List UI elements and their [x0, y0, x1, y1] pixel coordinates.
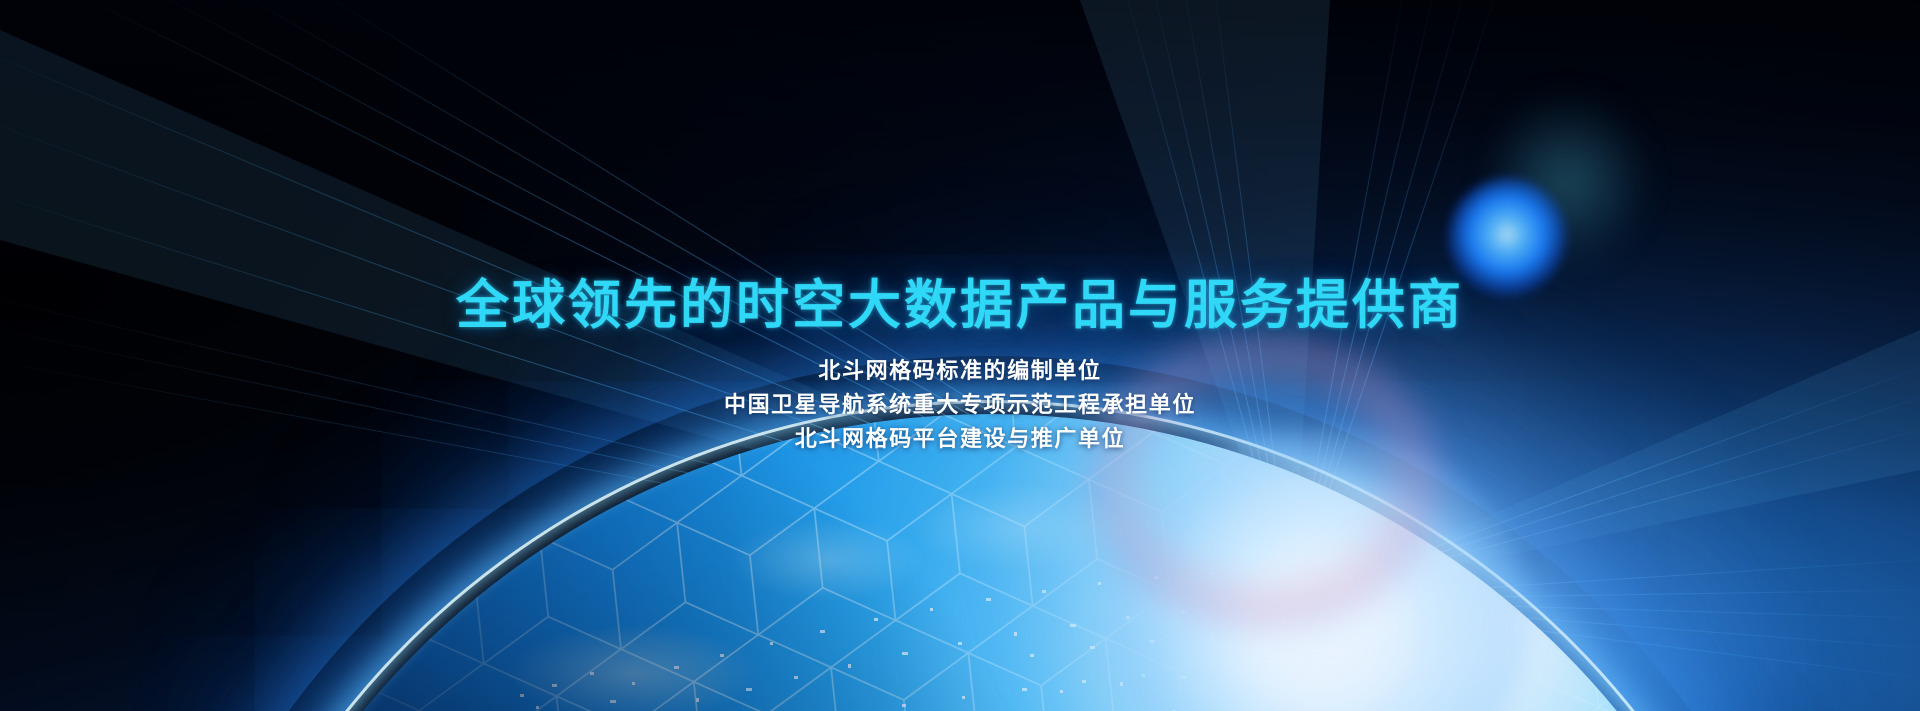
subtitle-list: 北斗网格码标准的编制单位 中国卫星导航系统重大专项示范工程承担单位 北斗网格码平…	[0, 354, 1920, 456]
subtitle-line-3: 北斗网格码平台建设与推广单位	[0, 422, 1920, 456]
page-title: 全球领先的时空大数据产品与服务提供商	[0, 263, 1920, 339]
hero-banner: 全球领先的时空大数据产品与服务提供商 北斗网格码标准的编制单位 中国卫星导航系统…	[0, 0, 1920, 711]
earth-globe	[180, 414, 1800, 711]
subtitle-line-2: 中国卫星导航系统重大专项示范工程承担单位	[0, 388, 1920, 422]
subtitle-line-1: 北斗网格码标准的编制单位	[0, 354, 1920, 388]
